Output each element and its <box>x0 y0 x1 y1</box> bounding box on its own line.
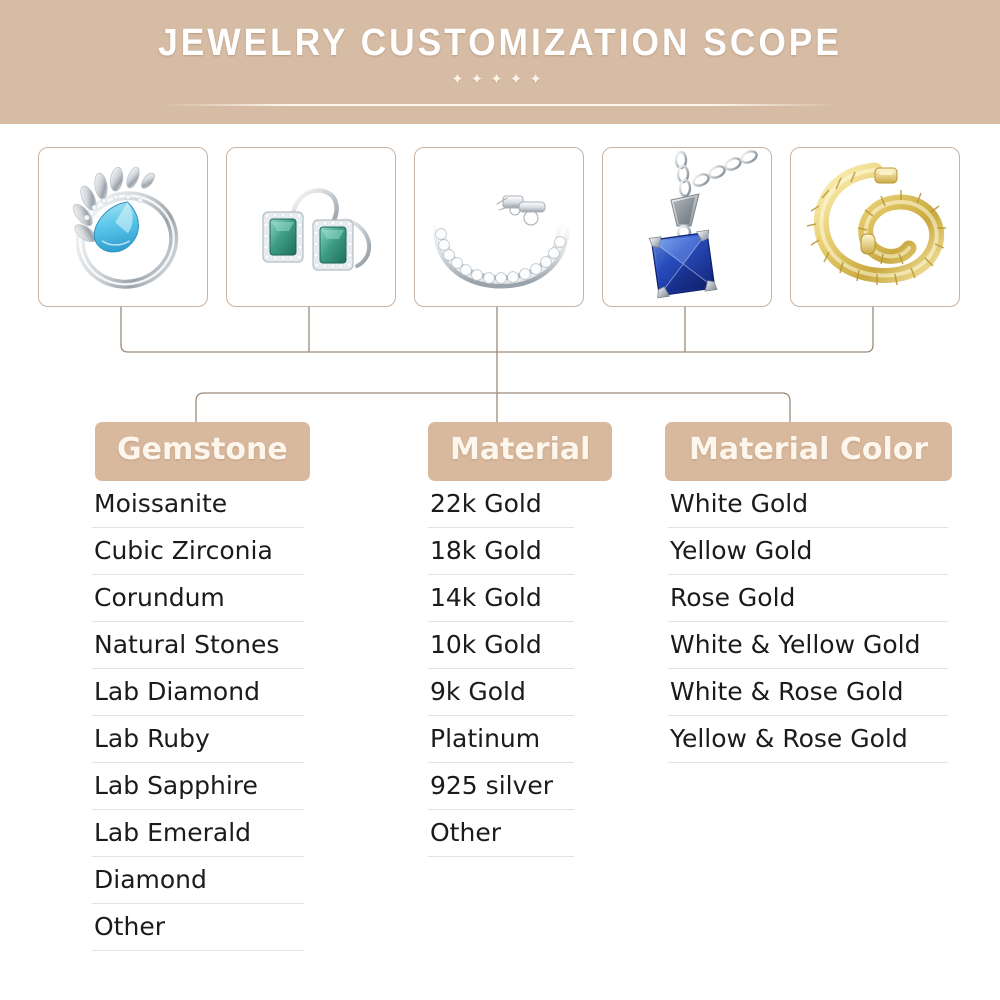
star-divider-icon: ✦✦✦✦✦ <box>0 72 1000 87</box>
category-list-gemstone: Moissanite Cubic Zirconia Corundum Natur… <box>92 481 304 951</box>
product-card-ring[interactable] <box>38 147 208 307</box>
product-card-bracelet[interactable] <box>414 147 584 307</box>
header-banner: JEWELRY CUSTOMIZATION SCOPE ✦✦✦✦✦ <box>0 0 1000 124</box>
bracelet-icon <box>415 148 583 306</box>
list-item[interactable]: 10k Gold <box>428 622 574 669</box>
category-list-material: 22k Gold 18k Gold 14k Gold 10k Gold 9k G… <box>428 481 574 857</box>
ring-icon <box>39 148 207 306</box>
list-item[interactable]: 9k Gold <box>428 669 574 716</box>
list-item[interactable]: Corundum <box>92 575 304 622</box>
list-item[interactable]: White & Rose Gold <box>668 669 948 716</box>
gold-chain-icon <box>791 148 959 306</box>
list-item[interactable]: 18k Gold <box>428 528 574 575</box>
category-title-material: Material <box>428 422 612 481</box>
list-item[interactable]: Lab Emerald <box>92 810 304 857</box>
category-list-material-color: White Gold Yellow Gold Rose Gold White &… <box>668 481 948 763</box>
category-column-material: Material 22k Gold 18k Gold 14k Gold 10k … <box>428 422 612 857</box>
list-item[interactable]: Lab Diamond <box>92 669 304 716</box>
header-divider <box>165 104 835 106</box>
list-item[interactable]: Diamond <box>92 857 304 904</box>
necklace-icon <box>603 148 771 306</box>
list-item[interactable]: Cubic Zirconia <box>92 528 304 575</box>
product-card-chain[interactable] <box>790 147 960 307</box>
product-card-row <box>0 147 1000 307</box>
infographic-page: JEWELRY CUSTOMIZATION SCOPE ✦✦✦✦✦ <box>0 0 1000 1000</box>
list-item[interactable]: 22k Gold <box>428 481 574 528</box>
list-item[interactable]: Yellow & Rose Gold <box>668 716 948 763</box>
list-item[interactable]: White Gold <box>668 481 948 528</box>
product-card-necklace[interactable] <box>602 147 772 307</box>
list-item[interactable]: Platinum <box>428 716 574 763</box>
list-item[interactable]: Lab Sapphire <box>92 763 304 810</box>
product-card-earrings[interactable] <box>226 147 396 307</box>
list-item[interactable]: Other <box>92 904 304 951</box>
list-item[interactable]: Moissanite <box>92 481 304 528</box>
list-item[interactable]: Lab Ruby <box>92 716 304 763</box>
category-title-material-color: Material Color <box>665 422 952 481</box>
list-item[interactable]: Other <box>428 810 574 857</box>
list-item[interactable]: Rose Gold <box>668 575 948 622</box>
list-item[interactable]: 925 silver <box>428 763 574 810</box>
earrings-icon <box>227 148 395 306</box>
list-item[interactable]: 14k Gold <box>428 575 574 622</box>
category-title-gemstone: Gemstone <box>95 422 310 481</box>
category-column-material-color: Material Color White Gold Yellow Gold Ro… <box>665 422 952 763</box>
list-item[interactable]: Yellow Gold <box>668 528 948 575</box>
category-column-gemstone: Gemstone Moissanite Cubic Zirconia Corun… <box>92 422 310 951</box>
list-item[interactable]: Natural Stones <box>92 622 304 669</box>
list-item[interactable]: White & Yellow Gold <box>668 622 948 669</box>
page-title: JEWELRY CUSTOMIZATION SCOPE <box>35 22 965 65</box>
